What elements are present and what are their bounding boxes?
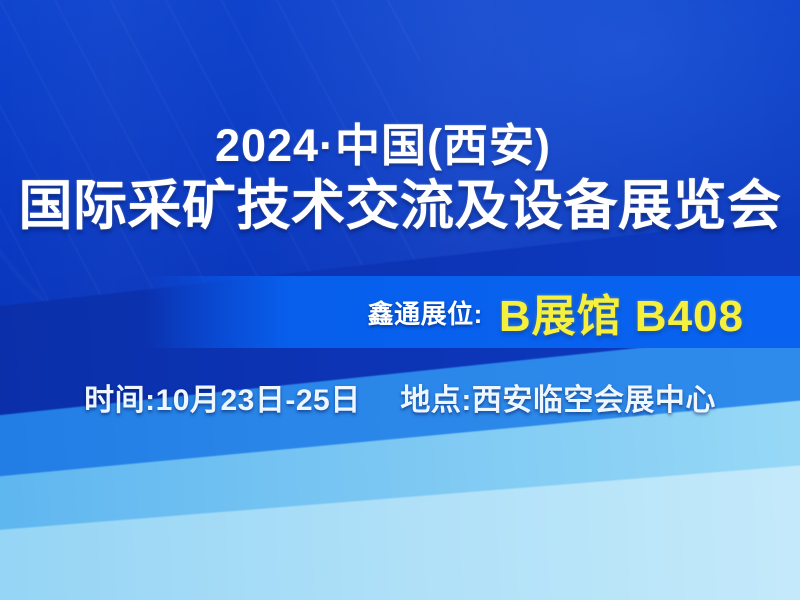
event-date: 时间:10月23日-25日: [84, 384, 361, 417]
event-venue: 地点:西安临空会展中心: [400, 384, 716, 417]
event-title: 2024·中国(西安) 国际采矿技术交流及设备展览会: [0, 118, 800, 238]
booth-number: B展馆 B408: [499, 280, 744, 344]
event-title-line-1: 2024·中国(西安): [0, 118, 800, 174]
event-title-line-2: 国际采矿技术交流及设备展览会: [0, 174, 800, 238]
exhibition-banner: 2024·中国(西安) 国际采矿技术交流及设备展览会 鑫通展位: B展馆 B40…: [0, 0, 800, 600]
booth-info-band: 鑫通展位: B展馆 B408: [0, 276, 800, 348]
booth-label: 鑫通展位:: [368, 294, 483, 331]
banner-content: 2024·中国(西安) 国际采矿技术交流及设备展览会 鑫通展位: B展馆 B40…: [0, 0, 800, 600]
event-meta-line: 时间:10月23日-25日 地点:西安临空会展中心: [0, 375, 800, 419]
